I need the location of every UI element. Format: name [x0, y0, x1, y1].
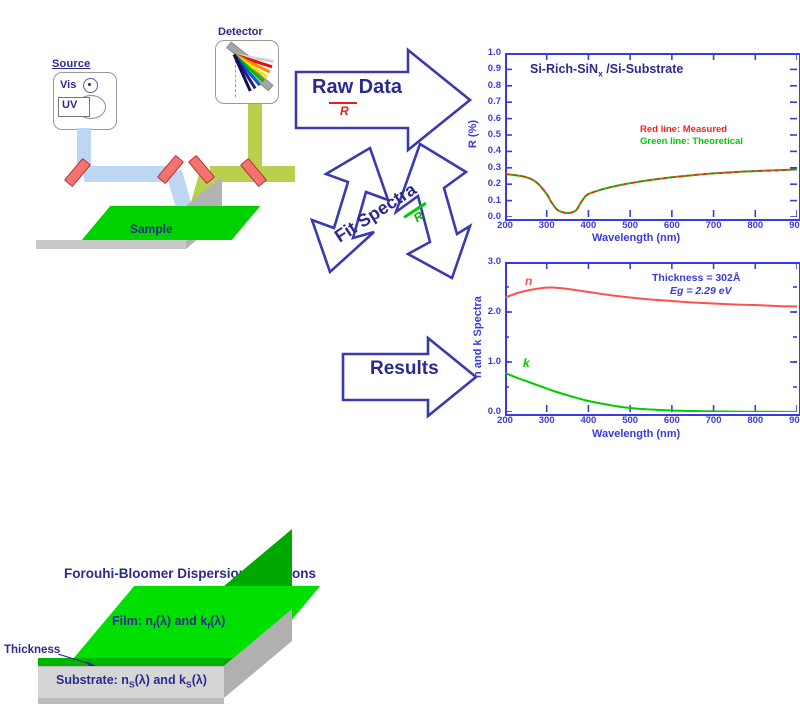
y-tick-label: 2.0 — [471, 306, 501, 317]
film-label-text: Film: n — [112, 614, 153, 628]
y-tick-label: 0.6 — [471, 113, 501, 124]
raw-data-symbol: R — [340, 104, 349, 118]
x-tick-label: 400 — [578, 220, 598, 231]
substrate-label-rest: (λ) and k — [135, 673, 186, 687]
x-tick-label: 300 — [537, 220, 557, 231]
film-label-rest: (λ) and k — [156, 614, 207, 628]
x-tick-label: 700 — [704, 220, 724, 231]
spectrum-fan-icon — [232, 52, 276, 98]
lamp-filament-icon — [88, 83, 91, 86]
nk-plot-area — [505, 262, 797, 412]
y-tick-label: 0.0 — [471, 211, 501, 222]
y-tick-label: 0.5 — [471, 129, 501, 140]
y-tick-label: 0.3 — [471, 162, 501, 173]
x-tick-label: 600 — [662, 220, 682, 231]
y-tick-label: 1.0 — [471, 356, 501, 367]
nk-spectra-chart: n and k Spectra Wavelength (nm) Thicknes… — [462, 252, 800, 448]
x-tick-label: 800 — [745, 220, 765, 231]
x-tick-label: 400 — [578, 415, 598, 426]
fit-spectra-symbol: R — [411, 209, 426, 225]
x-tick-label: 700 — [704, 415, 724, 426]
film-label-rest-2: (λ) — [210, 614, 225, 628]
y-tick-label: 3.0 — [471, 256, 501, 267]
source-label: Source — [52, 58, 91, 70]
reflectance-plot-area — [505, 53, 797, 217]
x-tick-label: 500 — [620, 220, 640, 231]
y-tick-label: 0.9 — [471, 63, 501, 74]
y-tick-label: 0.0 — [471, 406, 501, 417]
reflectance-chart: Si-Rich-SiNx /Si-Substrate R (%) Wavelen… — [462, 40, 800, 235]
vis-lamp-label: Vis — [60, 79, 76, 91]
substrate-label: Substrate: nS(λ) and kS(λ) — [56, 673, 207, 690]
film-label: Film: nf(λ) and kf(λ) — [112, 614, 225, 631]
x-tick-label: 500 — [620, 415, 640, 426]
beam-to-detector — [248, 104, 262, 166]
y-tick-label: 0.2 — [471, 178, 501, 189]
y-tick-label: 0.7 — [471, 96, 501, 107]
sample-label: Sample — [130, 222, 173, 236]
sample-front — [36, 240, 186, 249]
y-tick-label: 0.4 — [471, 145, 501, 156]
instrument-schematic: Source Vis UV Detector Sample — [0, 0, 320, 270]
substrate-label-text: Substrate: n — [56, 673, 129, 687]
reflectance-x-axis-title: Wavelength (nm) — [592, 232, 680, 244]
detector-label: Detector — [218, 26, 263, 38]
y-tick-label: 0.1 — [471, 195, 501, 206]
y-tick-label: 1.0 — [471, 47, 501, 58]
substrate-bottom-edge — [38, 698, 224, 704]
film-substrate-diagram: Forouhi-Bloomer Dispersion Equations Fil… — [0, 276, 330, 459]
thickness-leader-line — [58, 654, 96, 666]
x-tick-label: 900 — [787, 415, 800, 426]
x-tick-label: 600 — [662, 415, 682, 426]
x-tick-label: 900 — [787, 220, 800, 231]
results-label: Results — [370, 358, 439, 380]
x-tick-label: 800 — [745, 415, 765, 426]
nk-x-axis-title: Wavelength (nm) — [592, 428, 680, 440]
y-tick-label: 0.8 — [471, 80, 501, 91]
x-tick-label: 300 — [537, 415, 557, 426]
raw-data-label: Raw Data — [312, 76, 402, 99]
uv-lamp-label: UV — [62, 99, 77, 111]
substrate-label-rest-2: (λ) — [192, 673, 207, 687]
thickness-label: Thickness — [4, 644, 60, 656]
